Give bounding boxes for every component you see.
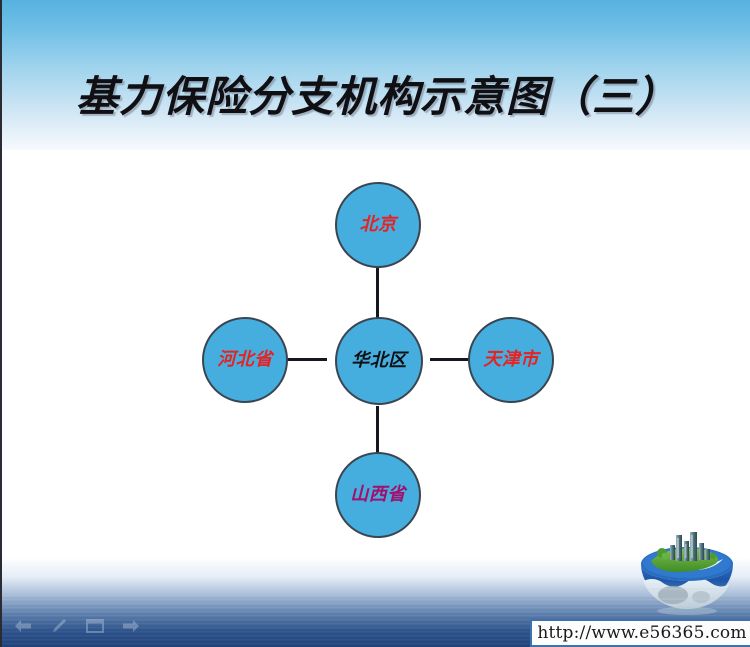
website-url-text: http://www.e56365.com <box>537 623 746 643</box>
node-shanxi-label: 山西省 <box>350 486 406 504</box>
org-structure-diagram: 北京 河北省 华北区 天津市 山西省 <box>2 150 750 560</box>
slideshow-nav-controls <box>12 617 142 635</box>
next-slide-button[interactable] <box>120 617 142 635</box>
node-north-china-region[interactable]: 华北区 <box>335 317 423 405</box>
pen-icon <box>51 618 67 634</box>
node-tianjin[interactable]: 天津市 <box>468 317 554 403</box>
node-hebei-label: 河北省 <box>217 351 273 369</box>
node-hebei[interactable]: 河北省 <box>202 317 288 403</box>
slide-title: 基力保险分支机构示意图（三） <box>2 63 750 124</box>
node-beijing-label: 北京 <box>360 216 397 234</box>
arrow-right-icon <box>121 619 141 633</box>
earth-city-globe-logo <box>629 531 745 617</box>
node-beijing[interactable]: 北京 <box>335 182 421 268</box>
menu-box-icon <box>86 619 104 633</box>
slide-menu-button[interactable] <box>84 617 106 635</box>
pen-tool-button[interactable] <box>48 617 70 635</box>
presentation-slide: 基力保险分支机构示意图（三） 北京 河北省 华北区 天津市 山西省 <box>0 0 750 647</box>
node-north-china-region-label: 华北区 <box>351 352 407 370</box>
arrow-left-icon <box>13 619 33 633</box>
node-tianjin-label: 天津市 <box>483 351 539 369</box>
previous-slide-button[interactable] <box>12 617 34 635</box>
node-shanxi[interactable]: 山西省 <box>335 452 421 538</box>
website-url-bar[interactable]: http://www.e56365.com <box>530 619 750 647</box>
